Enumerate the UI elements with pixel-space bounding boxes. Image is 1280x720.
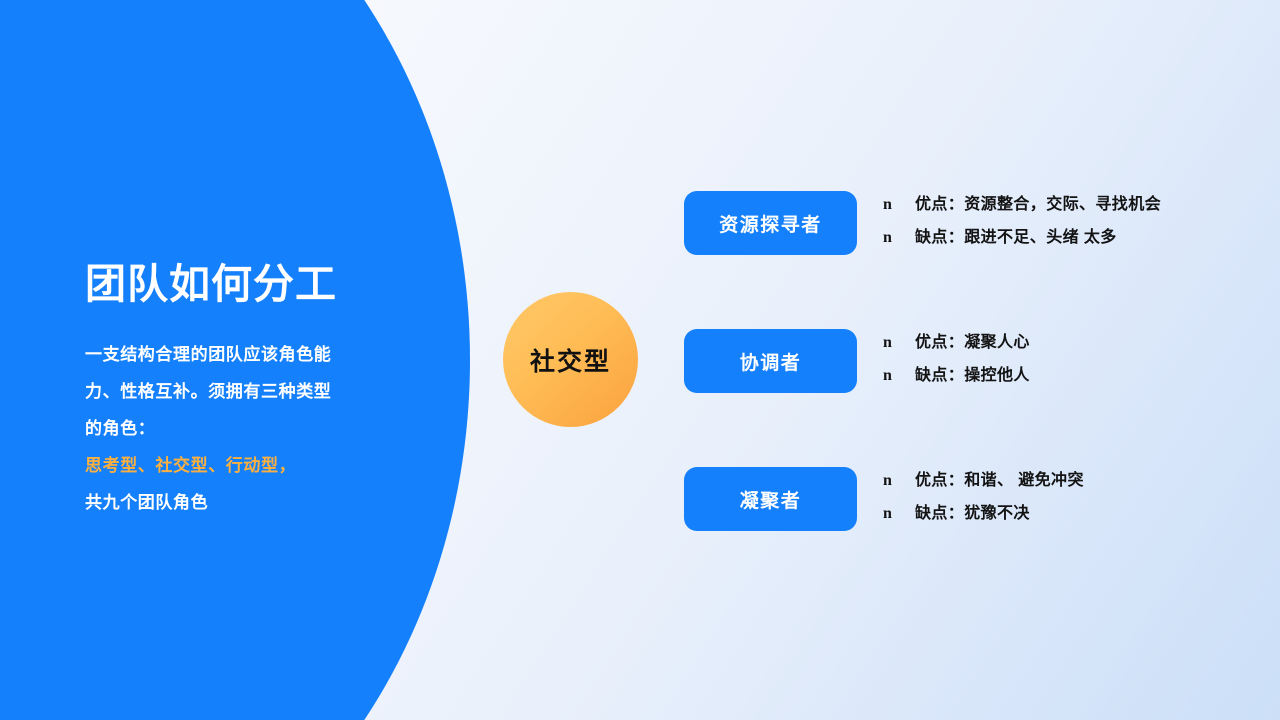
role-points-list: n 优点：凝聚人心 n 缺点：操控他人: [883, 328, 1030, 394]
list-item: n 缺点：跟进不足、头绪 太多: [883, 223, 1161, 256]
role-chip-label: 凝聚者: [740, 486, 802, 513]
lead-line: 共九个团队角色: [85, 484, 405, 521]
bullet-marker-icon: n: [883, 472, 915, 490]
list-item: n 优点：凝聚人心: [883, 328, 1030, 361]
point-text: 优点：凝聚人心: [915, 328, 1030, 352]
center-node-circle: 社交型: [503, 292, 638, 427]
role-points-list: n 优点：和谐、 避免冲突 n 缺点：犹豫不决: [883, 466, 1084, 532]
left-text-panel: 团队如何分工 一支结构合理的团队应该角色能 力、性格互补。须拥有三种类型 的角色…: [85, 258, 405, 521]
list-item: n 优点：资源整合，交际、寻找机会: [883, 190, 1161, 223]
lead-line: 力、性格互补。须拥有三种类型: [85, 373, 405, 410]
lead-paragraph: 一支结构合理的团队应该角色能 力、性格互补。须拥有三种类型 的角色： 思考型、社…: [85, 336, 405, 521]
role-points-list: n 优点：资源整合，交际、寻找机会 n 缺点：跟进不足、头绪 太多: [883, 190, 1161, 256]
role-row: 资源探寻者 n 优点：资源整合，交际、寻找机会 n 缺点：跟进不足、头绪 太多: [684, 190, 1161, 256]
page-title: 团队如何分工: [85, 258, 405, 310]
list-item: n 缺点：犹豫不决: [883, 499, 1084, 532]
role-chip-label: 资源探寻者: [719, 210, 822, 237]
list-item: n 优点：和谐、 避免冲突: [883, 466, 1084, 499]
point-text: 缺点：跟进不足、头绪 太多: [915, 223, 1117, 247]
role-row: 凝聚者 n 优点：和谐、 避免冲突 n 缺点：犹豫不决: [684, 466, 1084, 532]
lead-line: 一支结构合理的团队应该角色能: [85, 336, 405, 373]
bullet-marker-icon: n: [883, 505, 915, 523]
role-chip-label: 协调者: [740, 348, 802, 375]
bullet-marker-icon: n: [883, 229, 915, 247]
bullet-marker-icon: n: [883, 334, 915, 352]
bullet-marker-icon: n: [883, 196, 915, 214]
lead-line-accent: 思考型、社交型、行动型，: [85, 447, 405, 484]
role-chip-coordinator[interactable]: 协调者: [684, 329, 857, 393]
point-text: 缺点：操控他人: [915, 361, 1030, 385]
point-text: 优点：资源整合，交际、寻找机会: [915, 190, 1161, 214]
role-chip-teamworker[interactable]: 凝聚者: [684, 467, 857, 531]
role-chip-resource-investigator[interactable]: 资源探寻者: [684, 191, 857, 255]
bullet-marker-icon: n: [883, 367, 915, 385]
point-text: 优点：和谐、 避免冲突: [915, 466, 1084, 490]
role-row: 协调者 n 优点：凝聚人心 n 缺点：操控他人: [684, 328, 1030, 394]
lead-line: 的角色：: [85, 410, 405, 447]
slide-canvas: 团队如何分工 一支结构合理的团队应该角色能 力、性格互补。须拥有三种类型 的角色…: [0, 0, 1280, 720]
list-item: n 缺点：操控他人: [883, 361, 1030, 394]
point-text: 缺点：犹豫不决: [915, 499, 1030, 523]
center-node-label: 社交型: [530, 342, 611, 378]
